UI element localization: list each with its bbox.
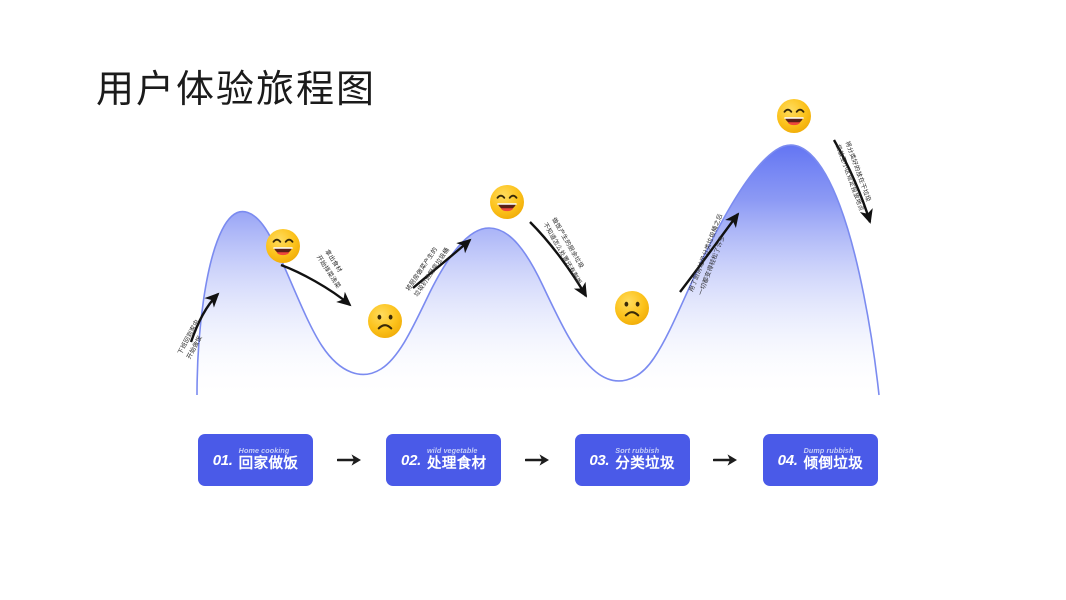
step-number: 04. [778, 453, 798, 468]
step-number: 03. [589, 453, 609, 468]
step-label-chinese: 分类垃圾 [615, 456, 675, 473]
arrow-right-icon [333, 453, 367, 467]
step-label-chinese: 倾倒垃圾 [804, 456, 864, 473]
arrow-right-icon [521, 453, 555, 467]
step-label-english: Home cooking [239, 447, 290, 455]
journey-steps: 01.Home cooking回家做饭02.wild vegetable处理食材… [198, 432, 878, 488]
happy-face-3-icon [774, 96, 814, 136]
journey-curve-chart [0, 0, 1066, 600]
step-card-03[interactable]: 03.Sort rubbish分类垃圾 [575, 434, 690, 486]
happy-face-1-icon [263, 226, 303, 266]
sad-face-2-icon [612, 288, 652, 328]
sad-face-1-icon [365, 301, 405, 341]
step-label-chinese: 处理食材 [427, 456, 487, 473]
step-label-english: Sort rubbish [615, 447, 659, 455]
step-labels: Home cooking回家做饭 [239, 447, 299, 473]
step-labels: wild vegetable处理食材 [427, 447, 487, 473]
step-label-english: wild vegetable [427, 447, 478, 455]
slide-canvas: 用户体验旅程图 [0, 0, 1066, 600]
step-labels: Sort rubbish分类垃圾 [615, 447, 675, 473]
step-number: 02. [401, 453, 421, 468]
journey-curve-fill [197, 145, 879, 395]
happy-face-2-icon [487, 182, 527, 222]
step-card-01[interactable]: 01.Home cooking回家做饭 [198, 434, 313, 486]
step-card-02[interactable]: 02.wild vegetable处理食材 [386, 434, 501, 486]
step-labels: Dump rubbish倾倒垃圾 [804, 447, 864, 473]
step-label-chinese: 回家做饭 [239, 456, 299, 473]
step-number: 01. [213, 453, 233, 468]
step-card-04[interactable]: 04.Dump rubbish倾倒垃圾 [763, 434, 878, 486]
arrow-right-icon [709, 453, 743, 467]
step-label-english: Dump rubbish [804, 447, 854, 455]
